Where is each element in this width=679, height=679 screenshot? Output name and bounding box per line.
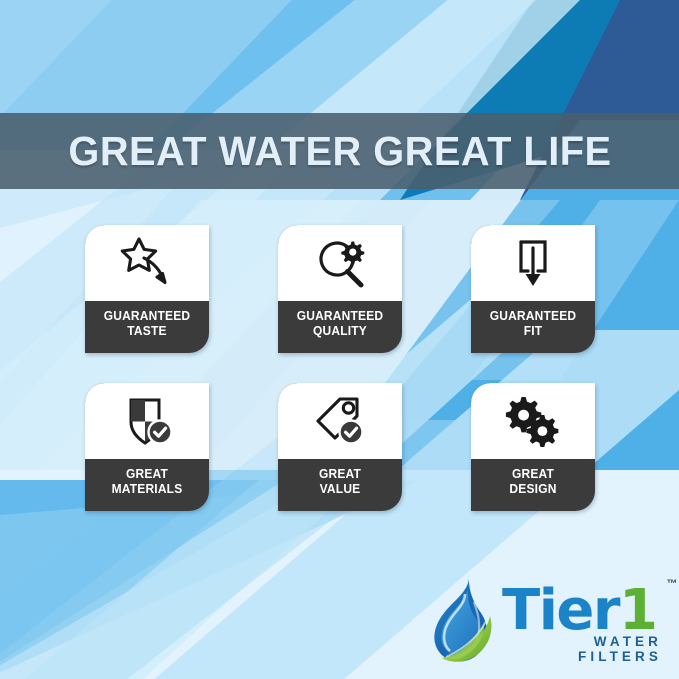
feature-tile-grid: GUARANTEED TASTE [0,225,679,511]
feature-tile-great-design[interactable]: GREAT DESIGN [471,383,595,511]
magnifier-gear-icon [311,236,369,290]
tile-label-line1: GREAT [125,467,167,482]
tile-label-line1: GUARANTEED [103,309,190,324]
feature-tile-guaranteed-fit[interactable]: GUARANTEED FIT [471,225,595,353]
feature-tile-great-value[interactable]: GREAT VALUE [278,383,402,511]
headline-banner: GREAT WATER GREAT LIFE [0,113,679,189]
tile-label-line2: VALUE [319,482,360,497]
tile-label-line1: GUARANTEED [489,309,576,324]
tile-label-line2: MATERIALS [111,482,182,497]
page-title: GREAT WATER GREAT LIFE [68,128,611,175]
tile-label: GUARANTEED TASTE [87,301,206,353]
feature-tile-guaranteed-quality[interactable]: GUARANTEED QUALITY [278,225,402,353]
two-gears-icon [504,394,562,448]
tile-label-line1: GREAT [318,467,360,482]
tile-artwork [471,225,595,301]
tile-label-line1: GREAT [511,467,553,482]
tile-artwork [85,225,209,301]
water-droplet-leaf-icon [424,572,500,668]
tile-label: GUARANTEED QUALITY [280,301,399,353]
tile-label: GREAT DESIGN [473,459,592,511]
infographic-canvas: GREAT WATER GREAT LIFE GUARANTEED [0,0,679,679]
feature-tile-row: GUARANTEED TASTE [0,225,679,353]
logo-brand-one: 1 [619,578,656,643]
tile-label-line2: TASTE [127,324,166,339]
tile-label: GREAT MATERIALS [87,459,206,511]
tile-artwork [278,383,402,459]
logo-brand-tier: Tier [502,578,619,643]
shooting-star-icon [118,236,176,290]
tile-label: GUARANTEED FIT [473,301,592,353]
trademark-symbol: ™ [667,580,677,590]
tile-label-line2: DESIGN [509,482,556,497]
tile-label-line1: GUARANTEED [296,309,383,324]
logo-brand-text: Tier1 ™ [502,586,664,636]
tile-artwork [85,383,209,459]
logo-wordmark: Tier1 ™ WATER FILTERS [502,572,664,664]
tile-label-line2: QUALITY [312,324,366,339]
price-tag-check-icon [310,394,370,448]
tile-artwork [278,225,402,301]
tile-label: GREAT VALUE [280,459,399,511]
feature-tile-great-materials[interactable]: GREAT MATERIALS [85,383,209,511]
feature-tile-row: GREAT MATERIALS GREAT [0,383,679,511]
insert-down-arrow-icon [506,236,560,290]
brand-logo: Tier1 ™ WATER FILTERS [424,572,664,668]
shield-check-icon [118,394,176,448]
feature-tile-guaranteed-taste[interactable]: GUARANTEED TASTE [85,225,209,353]
tile-artwork [471,383,595,459]
tile-label-line2: FIT [523,324,542,339]
